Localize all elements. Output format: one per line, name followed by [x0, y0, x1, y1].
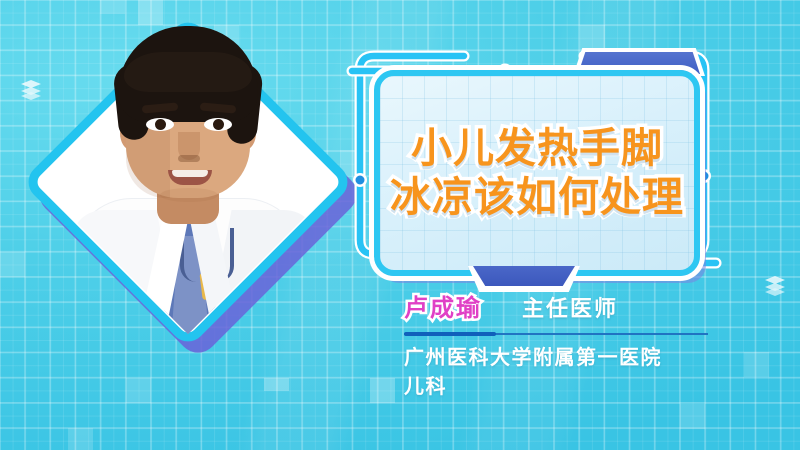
doctor-name-row: 卢成瑜 主任医师: [404, 288, 784, 323]
info-divider: [404, 332, 708, 336]
title-line-2: 冰凉该如何处理: [390, 176, 684, 219]
video-thumbnail: 小儿发热手脚 冰凉该如何处理 卢成瑜 主任医师 广州医科大学附属第一医院 儿科: [0, 0, 800, 450]
doctor-title: 主任医师: [522, 291, 618, 323]
title-text-block: 小儿发热手脚 冰凉该如何处理: [374, 70, 700, 276]
doctor-department: 儿科: [404, 372, 784, 401]
title-line-1: 小儿发热手脚: [411, 127, 663, 170]
doctor-name: 卢成瑜: [404, 288, 482, 323]
doctor-info: 卢成瑜 主任医师 广州医科大学附属第一医院 儿科: [404, 288, 784, 401]
doctor-hospital: 广州医科大学附属第一医院: [404, 343, 784, 372]
